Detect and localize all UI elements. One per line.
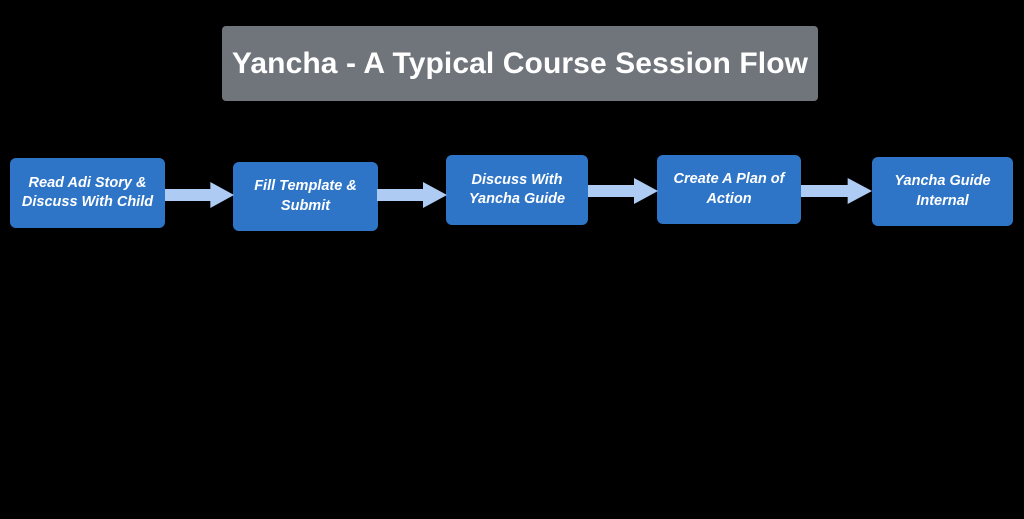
flow-node-fill-template[interactable]: Fill Template & Submit bbox=[233, 162, 378, 231]
flow-node-read-adi-story[interactable]: Read Adi Story & Discuss With Child bbox=[10, 158, 165, 228]
flow-node-discuss-with-yancha-guide[interactable]: Discuss With Yancha Guide bbox=[446, 155, 588, 225]
arrow-right-icon-2 bbox=[377, 182, 447, 208]
flow-node-label: Fill Template & Submit bbox=[254, 177, 357, 215]
diagram-title-banner: Yancha - A Typical Course Session Flow bbox=[222, 26, 818, 101]
page-title: Yancha - A Typical Course Session Flow bbox=[232, 47, 808, 80]
flow-node-label: Yancha Guide Internal bbox=[894, 172, 990, 210]
arrow-right-icon-4 bbox=[801, 178, 872, 204]
flow-node-label: Discuss With Yancha Guide bbox=[469, 171, 565, 209]
arrow-right-icon-3 bbox=[588, 178, 658, 204]
flow-node-yancha-guide-internal[interactable]: Yancha Guide Internal bbox=[872, 157, 1013, 226]
flow-node-label: Read Adi Story & Discuss With Child bbox=[22, 174, 153, 212]
flow-node-label: Create A Plan of Action bbox=[674, 170, 785, 208]
arrow-right-icon-1 bbox=[165, 182, 234, 208]
flow-node-create-a-plan-of-action[interactable]: Create A Plan of Action bbox=[657, 155, 801, 224]
diagram-canvas: Yancha - A Typical Course Session Flow R… bbox=[0, 0, 1024, 519]
